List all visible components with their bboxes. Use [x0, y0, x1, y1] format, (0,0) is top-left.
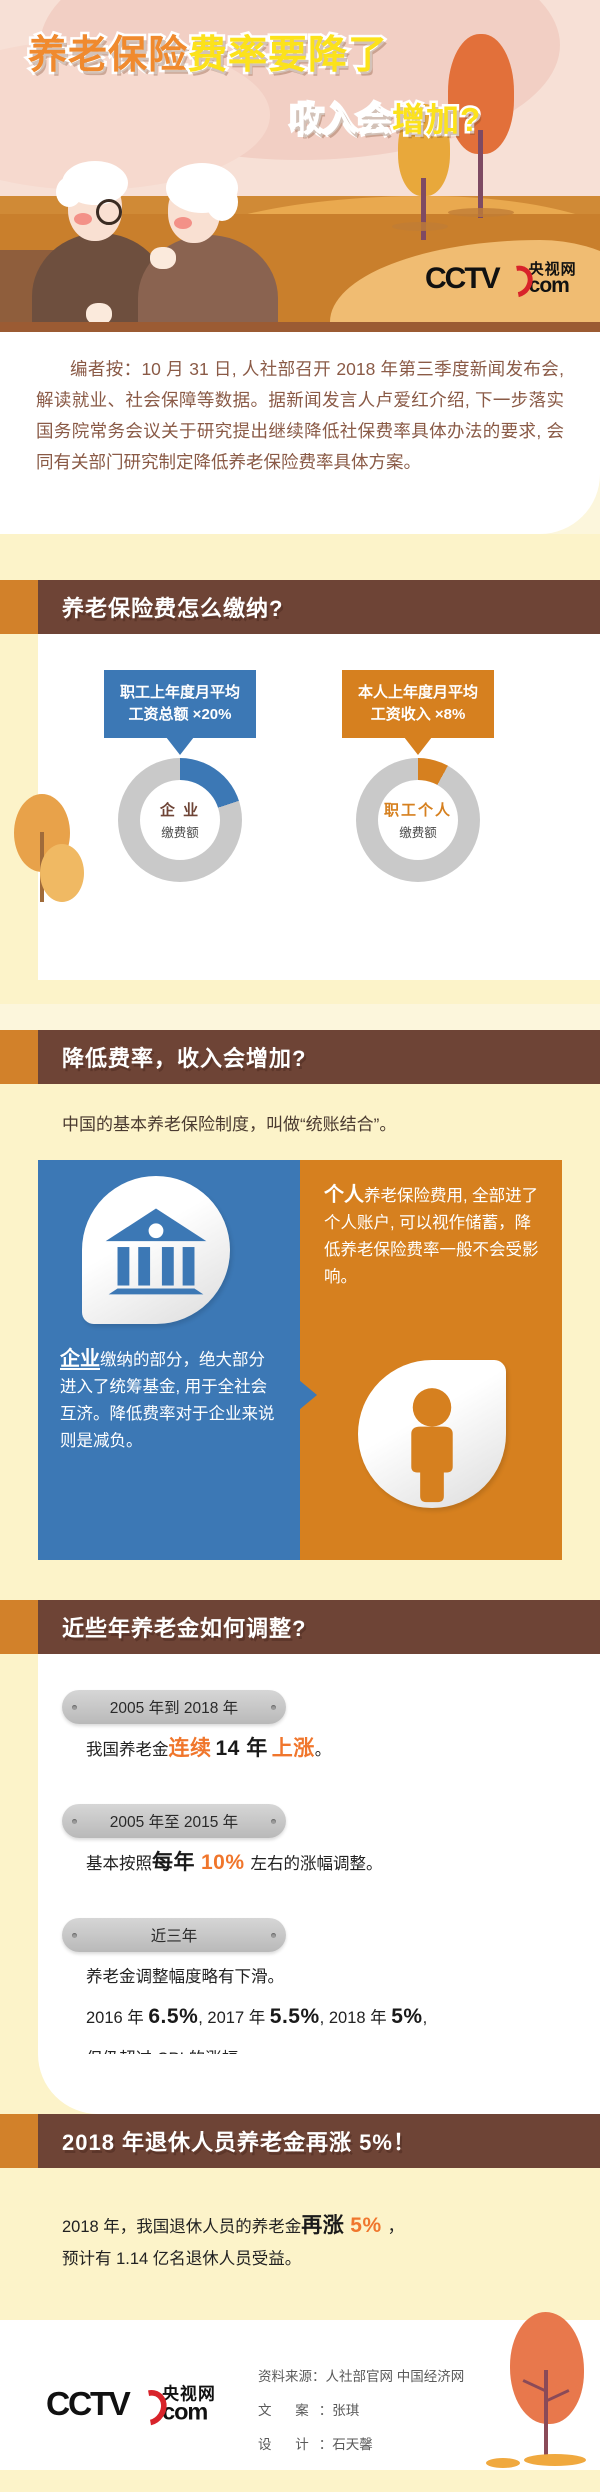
cctv-letters: CCTV: [46, 2388, 129, 2422]
section-2-body: 中国的基本养老保险制度，叫做“统账结合”。 企业缴纳的部分，绝大部分进入了统筹基…: [0, 1084, 600, 1600]
leaf-decoration-left-2: [40, 844, 86, 924]
note-strip-bg: [0, 534, 600, 580]
cctv-logo: CCTV 央视网 com: [425, 262, 577, 296]
tree-shadow: [448, 208, 514, 217]
credit-value-designer: 石天馨: [332, 2437, 373, 2452]
credit-row: 资料来源：人社部官网 中国经济网: [258, 2360, 464, 2394]
pill-dot-left: [72, 1705, 77, 1710]
item-2-suffix: 左右的涨幅调整。: [251, 1855, 383, 1873]
enterprise-callout: 职工上年度月平均 工资总额 ×20%: [104, 670, 256, 738]
cctv-com-label: com: [162, 2401, 216, 2425]
individual-callout: 本人上年度月平均 工资收入 ×8%: [342, 670, 494, 738]
cctv-hook-icon: [503, 264, 525, 294]
s4-hl-dark: 再涨: [301, 2214, 344, 2237]
section-header-4: 2018 年退休人员养老金再涨 5%！: [0, 2114, 600, 2168]
enterprise-panel: 企业缴纳的部分，绝大部分进入了统筹基金, 用于全社会互济。降低费率对于企业来说则…: [38, 1160, 300, 1560]
section-tab-mark: [0, 1030, 38, 1084]
footer-card: CCTV 央视网 com 资料来源：人社部官网 中国经济网 文 案：张琪 设 计…: [0, 2320, 600, 2470]
elderly-woman: [144, 161, 268, 332]
pill-dot-left: [72, 1933, 77, 1938]
section-header-1: 养老保险费怎么缴纳?: [0, 580, 600, 634]
enterprise-donut-title: 企 业: [160, 799, 200, 820]
hand: [150, 247, 176, 269]
credit-label-writer: 文 案: [258, 2403, 319, 2418]
hero-title: 养老保险费率要降了 收入会增加?: [0, 36, 600, 136]
title-part-3: 收入会: [290, 101, 392, 138]
item-2-prefix: 基本按照: [86, 1855, 152, 1873]
editor-note-text: 编者按：10 月 31 日, 人社部召开 2018 年第三季度新闻发布会, 解读…: [36, 354, 564, 478]
credit-label-source: 资料来源: [258, 2369, 312, 2384]
y2017-label: , 2017 年: [198, 2009, 270, 2027]
y2018-label: , 2018 年: [320, 2009, 392, 2027]
pill-dot-right: [271, 1819, 276, 1824]
individual-donut-center: 职工个人 缴费额: [378, 780, 458, 860]
section-2-title: 降低费率，收入会增加?: [62, 1041, 306, 1073]
section-3-item-2-text: 基本按照每年10%左右的涨幅调整。: [86, 1848, 383, 1879]
period-pill-3-label: 近三年: [151, 1924, 198, 1946]
section-3-bottom-corner: [0, 2054, 600, 2114]
title-part-2: 费率要降了: [188, 34, 388, 77]
section-3-item-3-line-1: 养老金调整幅度略有下滑。: [86, 1962, 284, 1992]
section-header-3: 近些年养老金如何调整?: [0, 1600, 600, 1654]
individual-callout-text: 本人上年度月平均 工资收入 ×8%: [358, 684, 478, 723]
section-header-2: 降低费率，收入会增加?: [0, 1030, 600, 1084]
enterprise-donut-sub: 缴费额: [161, 822, 199, 841]
section-3-corner-inner: [38, 2054, 600, 2114]
section-4-body: 2018 年，我国退休人员的养老金再涨5%， 预计有 1.14 亿名退休人员受益…: [0, 2168, 600, 2320]
s4-line2: 预计有 1.14 亿名退休人员受益。: [62, 2243, 404, 2275]
section-1-title: 养老保险费怎么缴纳?: [62, 591, 283, 623]
elderly-couple-illustration: [40, 155, 270, 332]
s4-suffix: ，: [388, 2218, 405, 2236]
cctv-com-label: com: [529, 275, 577, 296]
period-pill-2: 2005 年至 2015 年: [62, 1804, 286, 1838]
cctv-letters: CCTV: [425, 264, 499, 294]
enterprise-callout-text: 职工上年度月平均 工资总额 ×20%: [120, 684, 240, 723]
hero-bottom-strip: [0, 322, 600, 332]
footer-tree-illustration: [500, 2312, 590, 2472]
credit-value-source: 人社部官网 中国经济网: [326, 2369, 465, 2384]
section-1-body: 职工上年度月平均 工资总额 ×20% 企 业 缴费额 本人上年度月平均 工资收入…: [0, 634, 600, 1004]
cctv-logo-footer: CCTV 央视网 com: [46, 2386, 216, 2424]
enterprise-panel-lead: 企业: [60, 1348, 100, 1370]
tree-shadow: [392, 222, 448, 231]
section-3-body: 2005 年到 2018 年 我国养老金连续14 年上涨。 2005 年至 20…: [0, 1654, 600, 2114]
individual-panel-text: 个人养老保险费用, 全部进了个人账户, 可以视作储蓄，降低养老保险费率一般不会受…: [324, 1182, 540, 1291]
section-3-item-1-text: 我国养老金连续14 年上涨。: [86, 1734, 331, 1765]
credit-label-designer: 设 计: [258, 2437, 319, 2452]
enterprise-donut-chart: 企 业 缴费额: [118, 758, 242, 882]
s4-prefix: 2018 年，我国退休人员的养老金: [62, 2218, 301, 2236]
pill-dot-left: [72, 1819, 77, 1824]
item-1-prefix: 我国养老金: [86, 1741, 169, 1759]
title-part-1: 养老保险: [28, 34, 188, 77]
item-2-hl-1: 每年: [152, 1851, 195, 1874]
person-icon-bubble: [358, 1360, 506, 1508]
period-pill-3: 近三年: [62, 1918, 286, 1952]
item-2-number: 10%: [195, 1851, 251, 1874]
individual-panel: 个人养老保险费用, 全部进了个人账户, 可以视作储蓄，降低养老保险费率一般不会受…: [300, 1160, 562, 1560]
section-2-intro: 中国的基本养老保险制度，叫做“统账结合”。: [62, 1110, 396, 1135]
bank-icon: [82, 1176, 230, 1324]
credit-row: 文 案：张琪: [258, 2394, 464, 2428]
period-pill-1-label: 2005 年到 2018 年: [110, 1696, 238, 1718]
credit-row: 设 计：石天馨: [258, 2428, 464, 2462]
cctv-hook-icon: [133, 2388, 158, 2422]
individual-donut-chart: 职工个人 缴费额: [356, 758, 480, 882]
y2016-label: 2016 年: [86, 2009, 148, 2027]
section-4-title: 2018 年退休人员养老金再涨 5%！: [62, 2125, 416, 2157]
editor-note-card: 编者按：10 月 31 日, 人社部召开 2018 年第三季度新闻发布会, 解读…: [0, 332, 600, 534]
period-pill-1: 2005 年到 2018 年: [62, 1690, 286, 1724]
eyeglasses-icon: [96, 199, 122, 225]
section-3-title: 近些年养老金如何调整?: [62, 1611, 306, 1643]
person-icon: [358, 1360, 506, 1508]
y2016-value: 6.5%: [148, 2005, 198, 2028]
hero-banner: 养老保险费率要降了 收入会增加? CCTV 央视网 com: [0, 0, 600, 332]
individual-panel-lead: 个人: [324, 1184, 364, 1206]
item-1-hl-1: 连续: [169, 1737, 212, 1760]
line2-suffix: ,: [423, 2009, 428, 2027]
pill-dot-right: [271, 1705, 276, 1710]
section-1-bottom-fade: [0, 980, 600, 1004]
title-part-4: 增加?: [392, 101, 481, 138]
y2017-value: 5.5%: [270, 2005, 320, 2028]
enterprise-panel-text: 企业缴纳的部分，绝大部分进入了统筹基金, 用于全社会互济。降低费率对于企业来说则…: [60, 1346, 276, 1455]
section-tab-mark: [0, 1600, 38, 1654]
period-pill-2-label: 2005 年至 2015 年: [110, 1810, 238, 1832]
item-1-number: 14 年: [212, 1737, 272, 1760]
item-1-suffix: 。: [315, 1741, 332, 1759]
individual-donut-title: 职工个人: [384, 799, 452, 820]
section-4-text: 2018 年，我国退休人员的养老金再涨5%， 预计有 1.14 亿名退休人员受益…: [62, 2210, 404, 2275]
section-tab-mark: [0, 580, 38, 634]
section-3-item-3-line-2: 2016 年 6.5%, 2017 年 5.5%, 2018 年 5%,: [86, 2002, 427, 2033]
section-tab-mark: [0, 2114, 38, 2168]
bank-icon-bubble: [82, 1176, 230, 1324]
credit-value-writer: 张琪: [332, 2403, 359, 2418]
footer: CCTV 央视网 com 资料来源：人社部官网 中国经济网 文 案：张琪 设 计…: [0, 2320, 600, 2492]
pill-dot-right: [271, 1933, 276, 1938]
section-3-left-rail: [0, 1654, 38, 2114]
s4-hl-orange: 5%: [344, 2214, 387, 2237]
individual-donut-sub: 缴费额: [399, 822, 437, 841]
item-1-hl-2: 上涨: [272, 1737, 315, 1760]
y2018-value: 5%: [391, 2005, 422, 2028]
comparison-panels: 企业缴纳的部分，绝大部分进入了统筹基金, 用于全社会互济。降低费率对于企业来说则…: [38, 1160, 562, 1560]
footer-credits: 资料来源：人社部官网 中国经济网 文 案：张琪 设 计：石天馨: [258, 2360, 464, 2462]
enterprise-donut-center: 企 业 缴费额: [140, 780, 220, 860]
